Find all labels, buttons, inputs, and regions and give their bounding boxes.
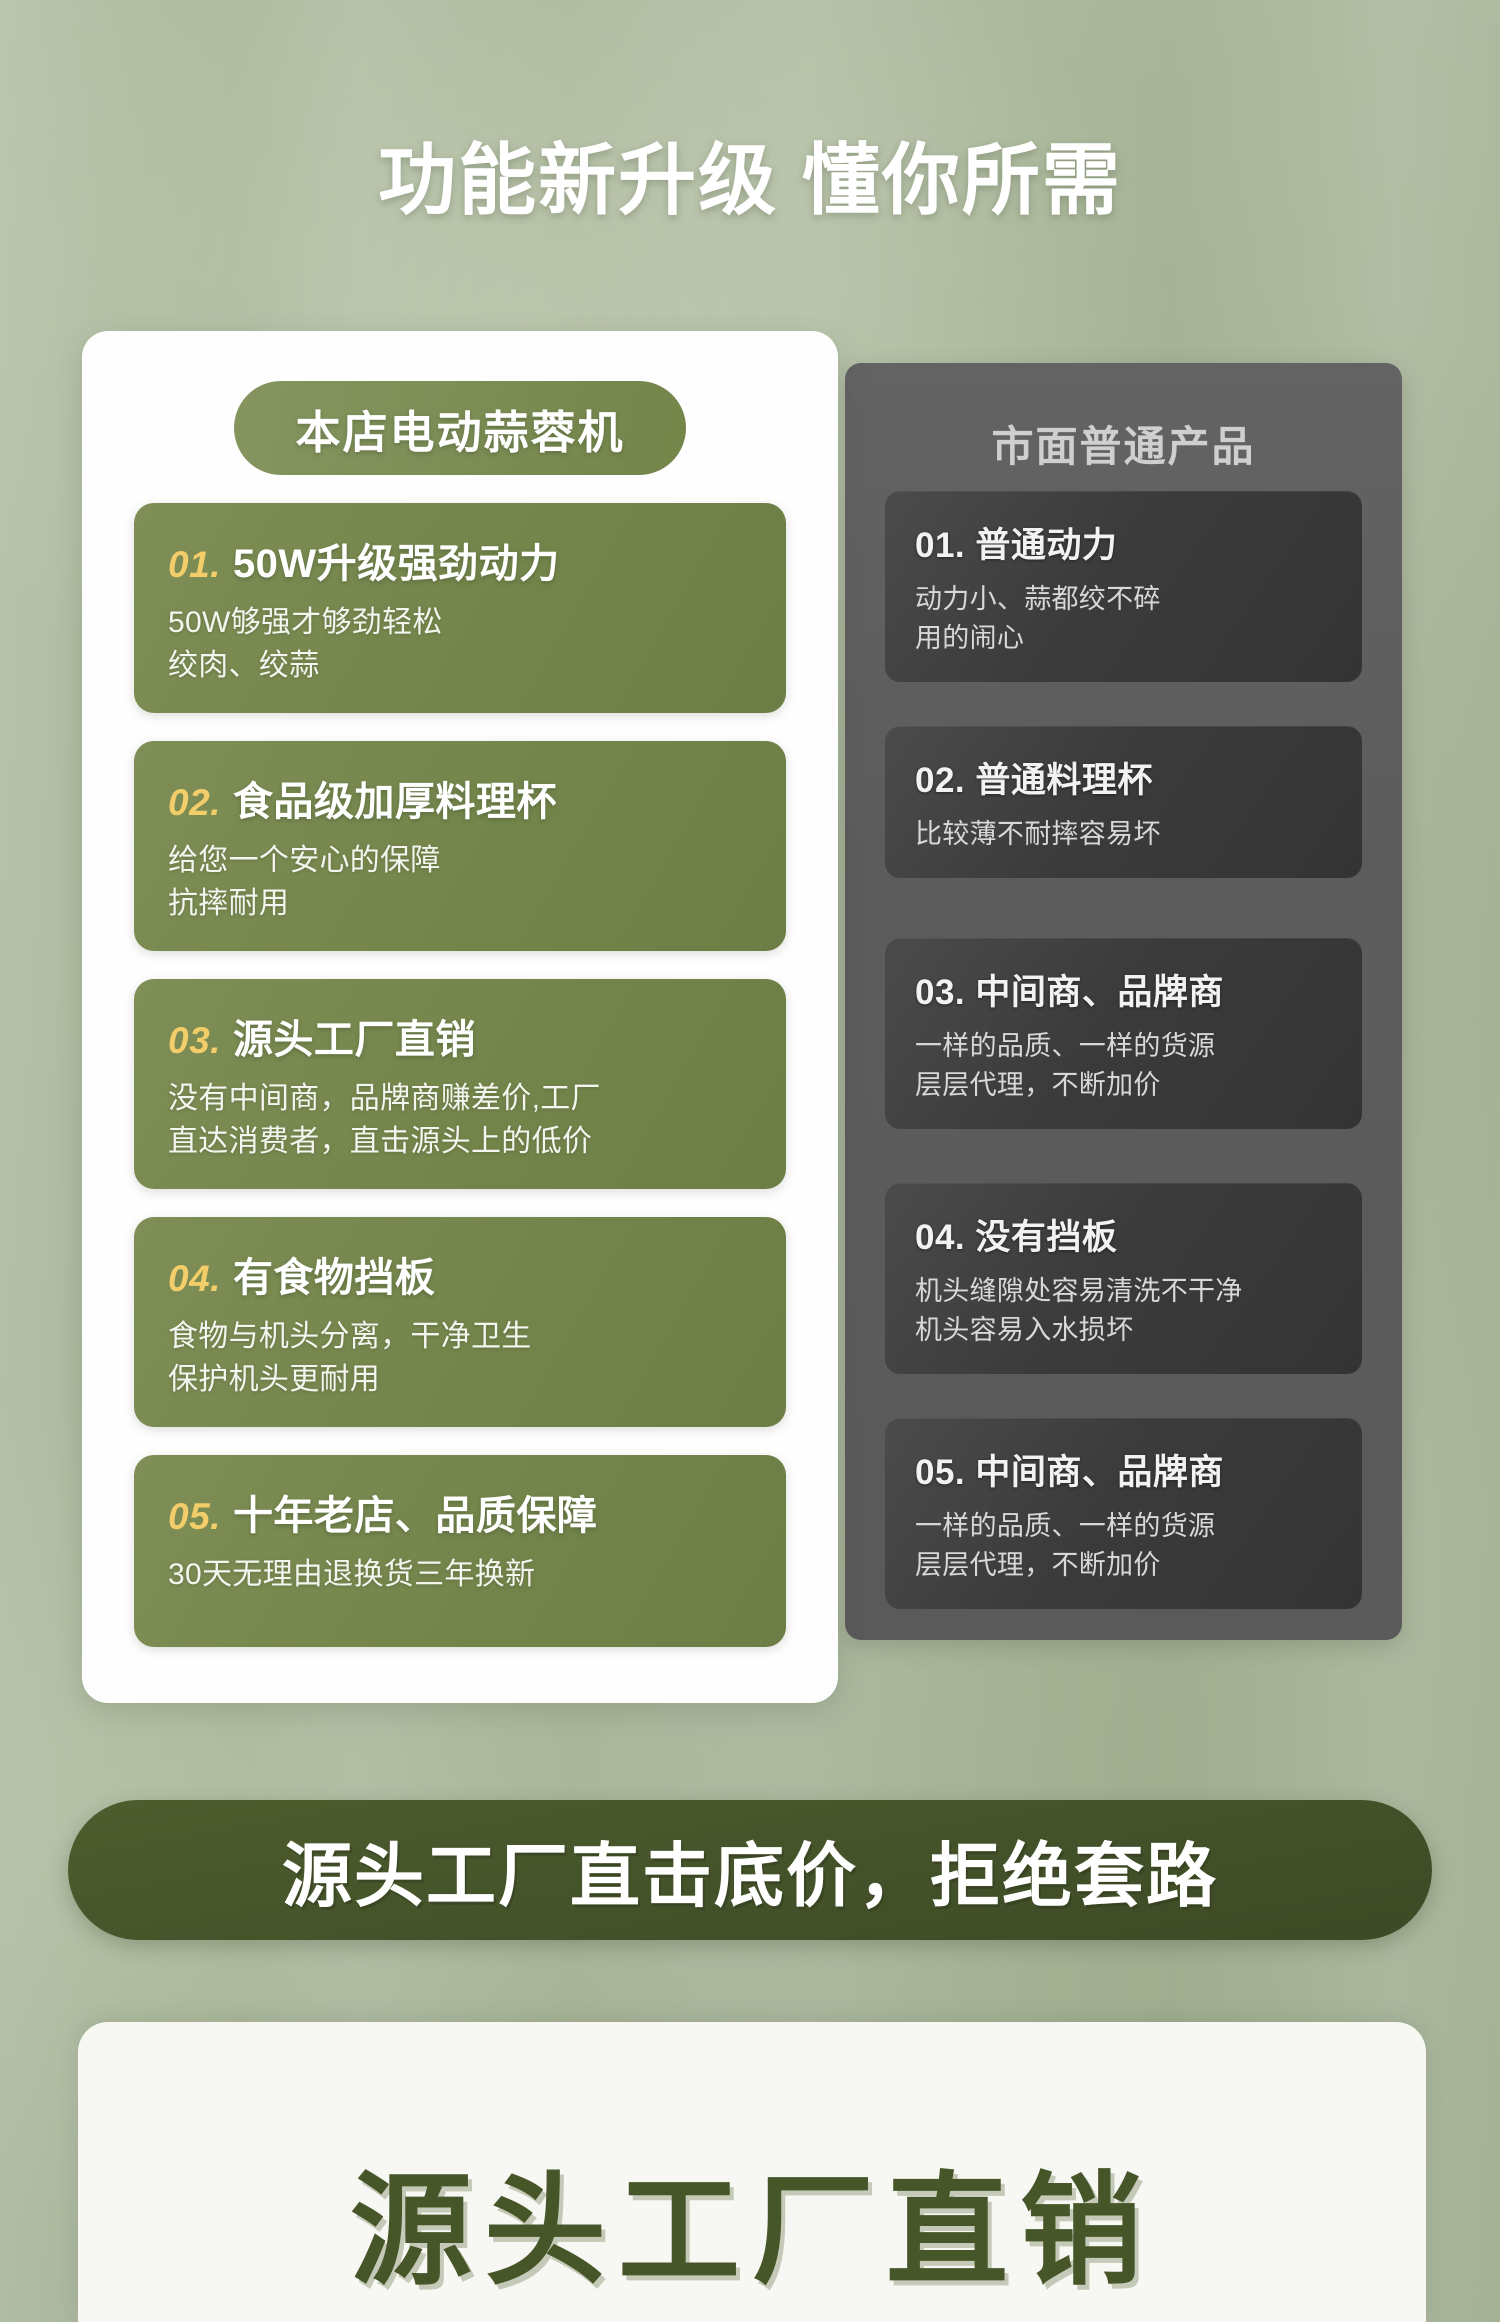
promo-banner: 源头工厂直击底价，拒绝套路 (68, 1800, 1432, 1940)
factory-direct-title: 源头工厂直销 (78, 2132, 1426, 2309)
page-title: 功能新升级 懂你所需 (0, 118, 1500, 230)
page-background-overlay (0, 0, 1500, 2322)
promo-banner-label: 源头工厂直击底价，拒绝套路 (282, 1820, 1218, 1921)
factory-direct-subtitle: 中国质量造 品牌改造 (78, 2305, 1426, 2322)
factory-direct-panel: 源头工厂直销 中国质量造 品牌改造 (78, 2022, 1426, 2322)
